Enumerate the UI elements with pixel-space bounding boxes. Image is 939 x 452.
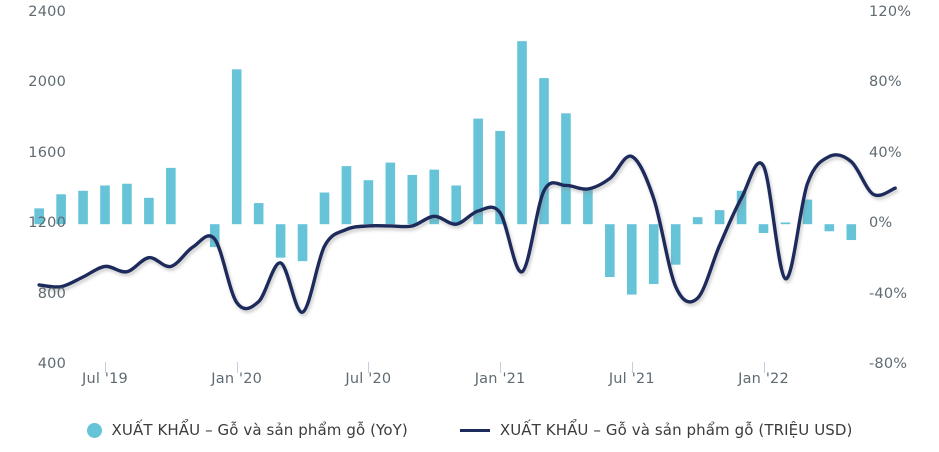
bar-2019-06[interactable] xyxy=(78,191,88,224)
bar-2020-05[interactable] xyxy=(320,193,330,225)
bar-2021-09[interactable] xyxy=(671,224,681,264)
y-right-tick-0: 0% xyxy=(869,215,939,231)
y-right-tick--80: -80% xyxy=(869,356,939,372)
bar-2021-05[interactable] xyxy=(583,187,593,224)
bar-2022-04[interactable] xyxy=(825,224,835,231)
chart-canvas xyxy=(0,0,939,400)
y-right-tick--40: -40% xyxy=(869,286,939,302)
bar-2021-10[interactable] xyxy=(693,217,703,224)
bar-2020-02[interactable] xyxy=(254,203,264,224)
y-left-tick-2000: 2000 xyxy=(8,74,66,90)
bar-2021-06[interactable] xyxy=(605,224,615,277)
legend-item-usd[interactable]: XUẤT KHẨU – Gỗ và sản phẩm gỗ (TRIỆU USD… xyxy=(460,421,853,439)
bar-series-yoy xyxy=(34,41,856,294)
bar-2022-01[interactable] xyxy=(759,224,769,233)
bar-2019-09[interactable] xyxy=(144,198,154,224)
bar-2020-06[interactable] xyxy=(342,166,352,224)
bar-2019-07[interactable] xyxy=(100,185,110,224)
bar-2019-10[interactable] xyxy=(166,168,176,224)
chart-root: 4008001200160020002400 -80%-40%0%40%80%1… xyxy=(0,0,939,452)
bar-2020-11[interactable] xyxy=(451,185,461,224)
bar-2020-09[interactable] xyxy=(408,175,418,224)
bar-2020-04[interactable] xyxy=(298,224,308,261)
x-tick-label-3: Jan '21 xyxy=(455,371,545,387)
y-right-tick-80: 80% xyxy=(869,74,939,90)
bar-2022-02[interactable] xyxy=(781,222,791,224)
x-tick-label-0: Jul '19 xyxy=(60,371,150,387)
x-tick-label-1: Jan '20 xyxy=(192,371,282,387)
y-left-tick-2400: 2400 xyxy=(8,4,66,20)
x-tick-label-4: Jul '21 xyxy=(587,371,677,387)
bar-2021-04[interactable] xyxy=(561,113,571,224)
bar-2021-11[interactable] xyxy=(715,210,725,224)
y-right-tick-120: 120% xyxy=(869,4,939,20)
bar-2020-08[interactable] xyxy=(386,163,396,225)
y-left-tick-400: 400 xyxy=(8,356,66,372)
y-left-tick-1200: 1200 xyxy=(8,215,66,231)
bar-2021-08[interactable] xyxy=(649,224,659,284)
plot-area xyxy=(0,0,939,400)
bar-2022-05[interactable] xyxy=(847,224,857,240)
bar-2020-07[interactable] xyxy=(364,180,374,224)
y-left-tick-800: 800 xyxy=(8,286,66,302)
legend-label-yoy: XUẤT KHẨU – Gỗ và sản phẩm gỗ (YoY) xyxy=(112,421,408,439)
chart-legend: XUẤT KHẨU – Gỗ và sản phẩm gỗ (YoY) XUẤT… xyxy=(0,408,939,452)
y-right-tick-40: 40% xyxy=(869,145,939,161)
bar-2021-02[interactable] xyxy=(517,41,527,224)
legend-line-icon xyxy=(460,429,490,432)
legend-label-usd: XUẤT KHẨU – Gỗ và sản phẩm gỗ (TRIỆU USD… xyxy=(500,421,853,439)
bar-2021-07[interactable] xyxy=(627,224,637,294)
x-tick-label-5: Jan '22 xyxy=(719,371,809,387)
bar-2020-01[interactable] xyxy=(232,69,242,224)
legend-item-yoy[interactable]: XUẤT KHẨU – Gỗ và sản phẩm gỗ (YoY) xyxy=(87,421,408,439)
x-tick-label-2: Jul '20 xyxy=(323,371,413,387)
bar-2020-03[interactable] xyxy=(276,224,286,257)
legend-dot-icon xyxy=(87,423,102,438)
bar-2019-08[interactable] xyxy=(122,184,132,224)
y-left-tick-1600: 1600 xyxy=(8,145,66,161)
